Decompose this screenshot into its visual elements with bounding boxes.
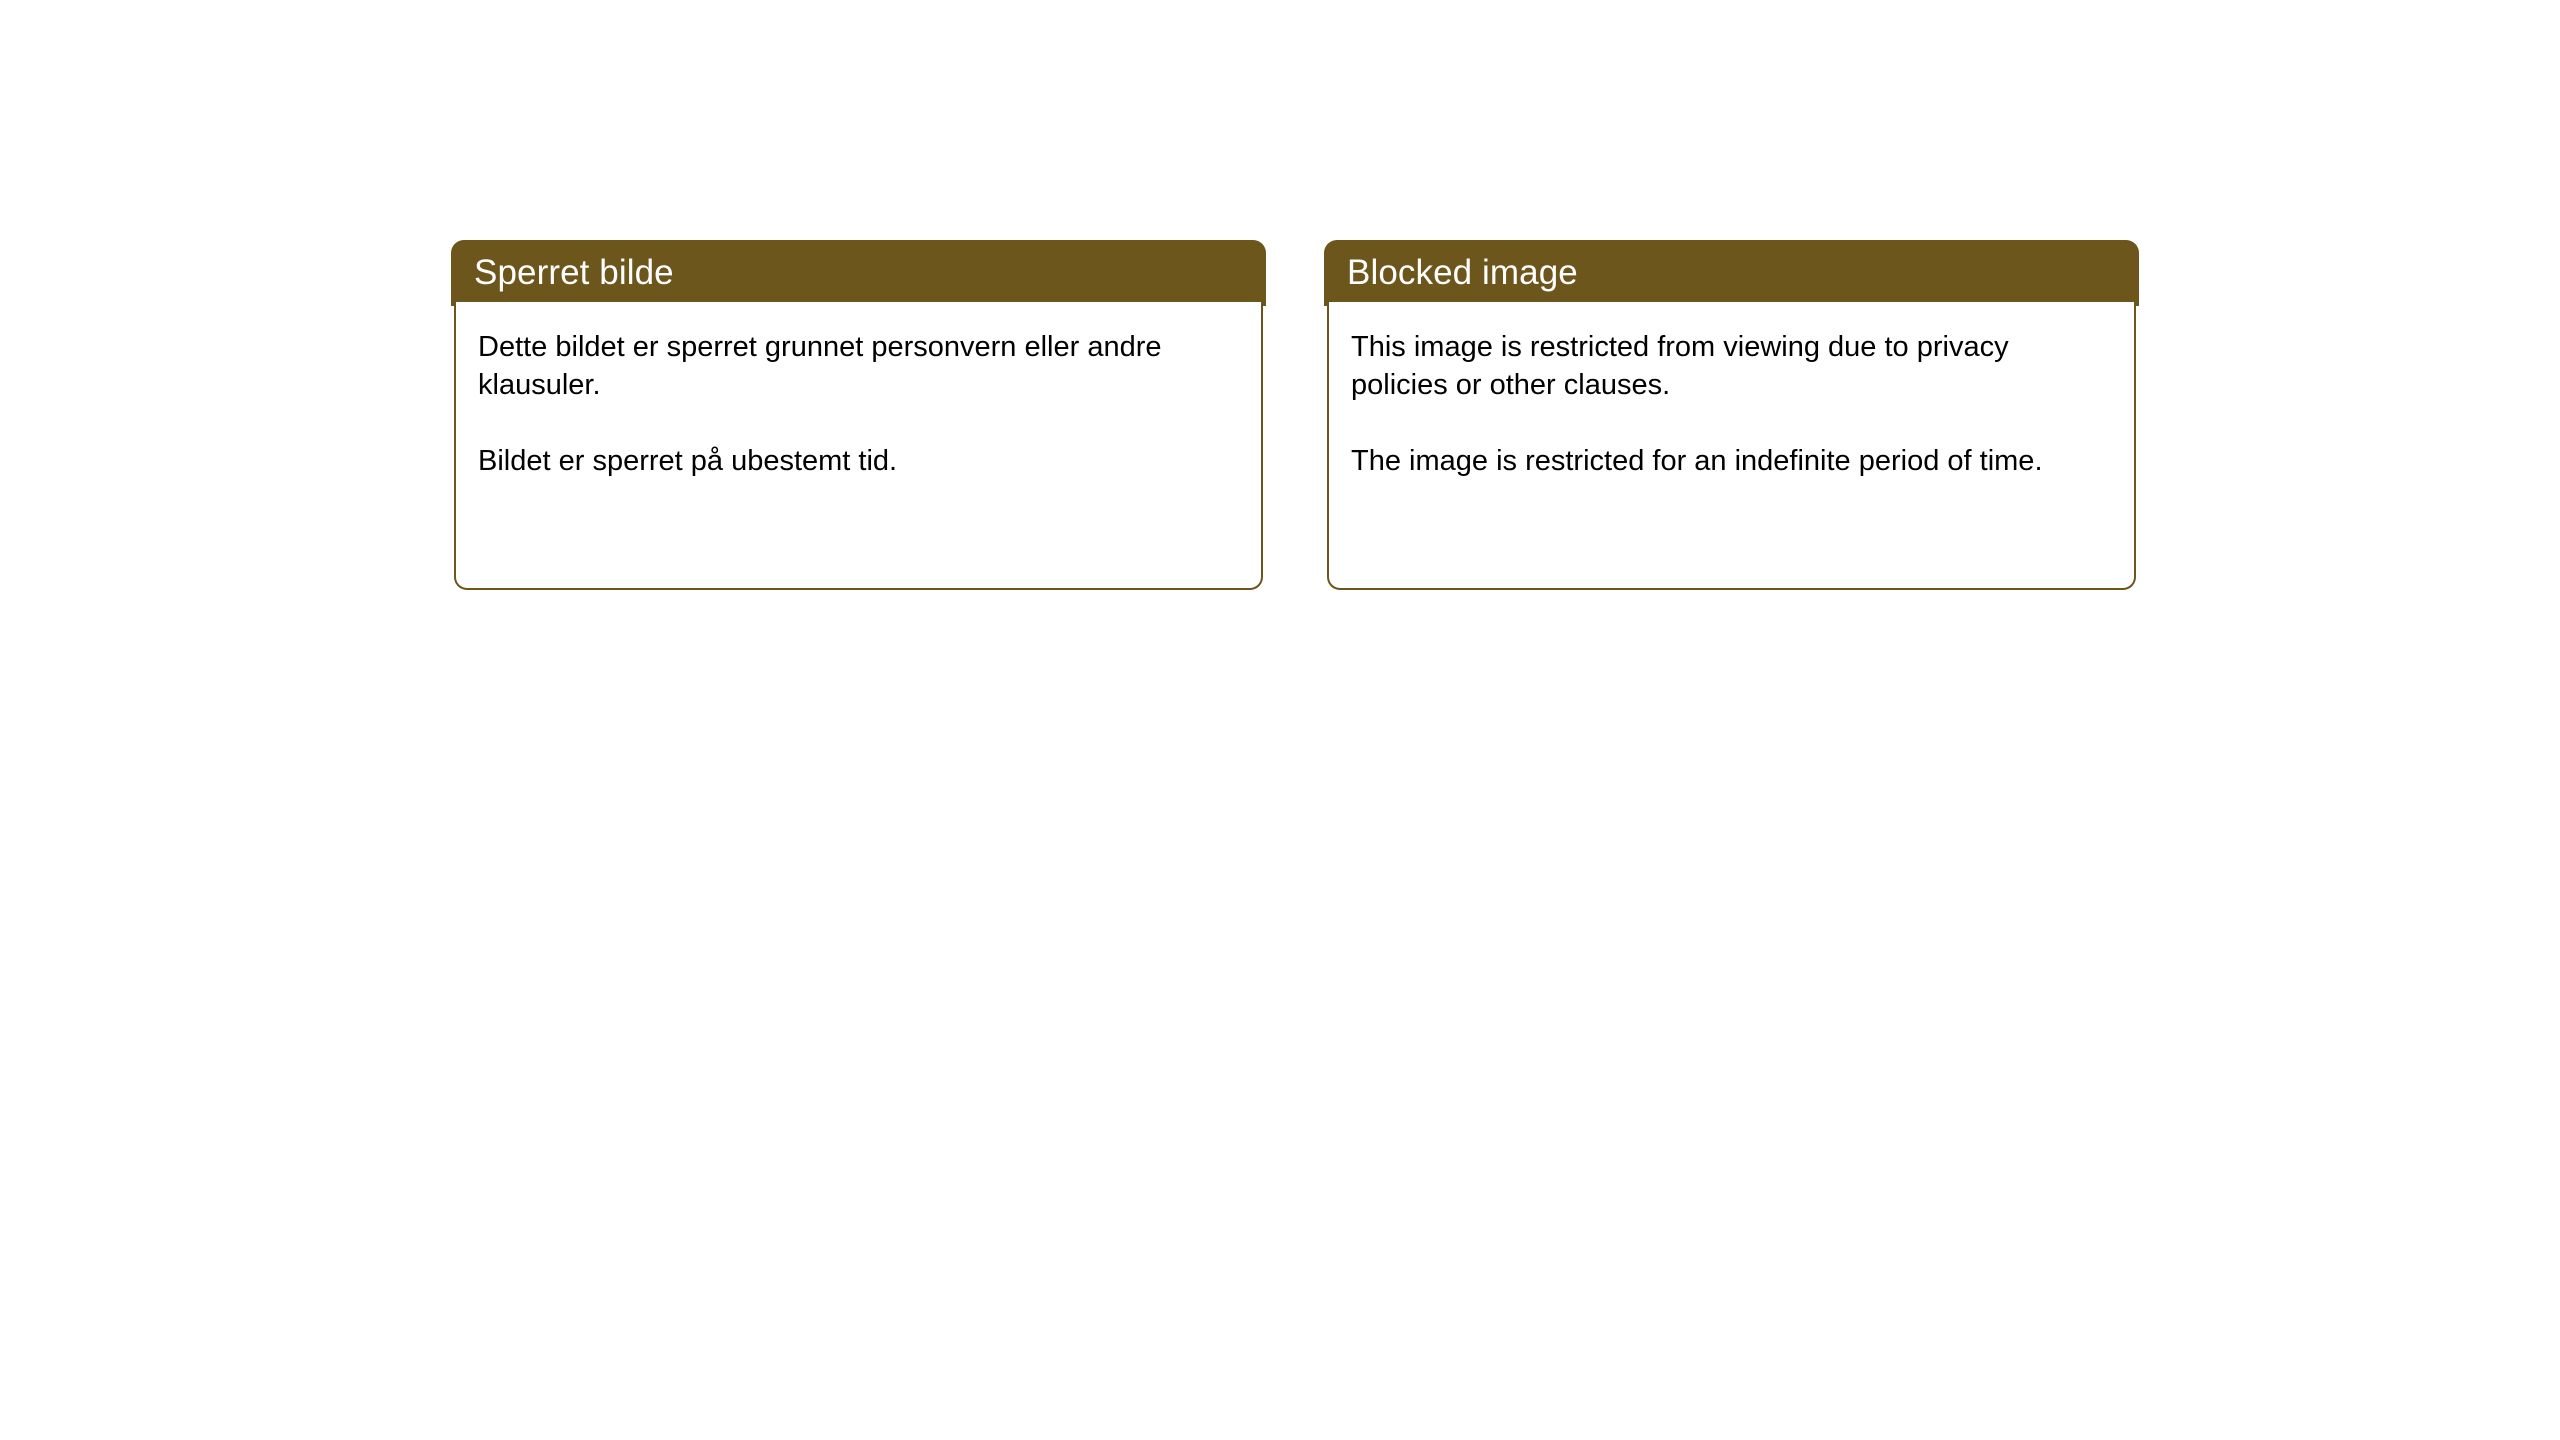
panel-message-primary-english: This image is restricted from viewing du…: [1351, 328, 2112, 404]
blocked-image-panel-norwegian: Sperret bilde Dette bildet er sperret gr…: [451, 240, 1266, 590]
panel-message-secondary-norwegian: Bildet er sperret på ubestemt tid.: [478, 442, 1239, 480]
panel-message-primary-norwegian: Dette bildet er sperret grunnet personve…: [478, 328, 1239, 404]
blocked-image-panel-english: Blocked image This image is restricted f…: [1324, 240, 2139, 590]
panel-body-norwegian: Dette bildet er sperret grunnet personve…: [454, 302, 1263, 590]
blocked-image-notice-area: Sperret bilde Dette bildet er sperret gr…: [0, 0, 2560, 1440]
panel-body-english: This image is restricted from viewing du…: [1327, 302, 2136, 590]
panel-message-secondary-english: The image is restricted for an indefinit…: [1351, 442, 2112, 480]
panel-title-norwegian: Sperret bilde: [474, 253, 674, 293]
panel-header-english: Blocked image: [1324, 240, 2139, 306]
panel-header-norwegian: Sperret bilde: [451, 240, 1266, 306]
panel-title-english: Blocked image: [1347, 253, 1578, 293]
